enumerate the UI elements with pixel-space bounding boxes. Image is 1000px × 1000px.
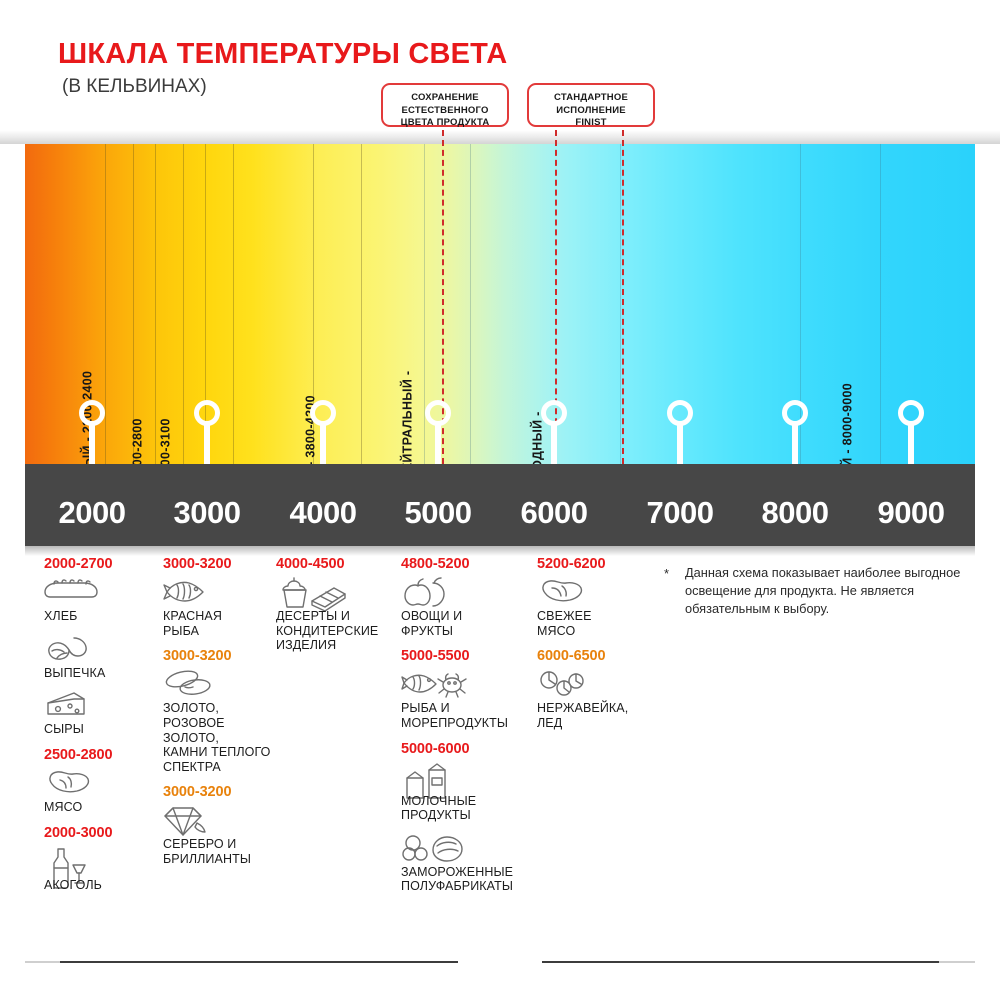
diamond-icon	[163, 805, 281, 835]
legend-item-caption: ХЛЕБ	[44, 609, 156, 624]
scale-marker-3000	[194, 400, 220, 470]
legend-range-label: 2000-3000	[44, 825, 156, 841]
legend-item-caption: ОВОЩИ ИФРУКТЫ	[401, 609, 531, 638]
dairy-icon	[401, 762, 531, 792]
legend-item-caption: СВЕЖЕЕМЯСО	[537, 609, 649, 638]
legend-range-label: 5000-5500	[401, 648, 531, 664]
scale-tick-9000: 9000	[878, 495, 945, 531]
bottom-rule-fade-left	[25, 961, 61, 963]
legend-item-caption: КРАСНАЯРЫБА	[163, 609, 281, 638]
seafood-icon	[401, 669, 531, 699]
legend-column-1: 2000-2700ХЛЕБВЫПЕЧКАСЫРЫ2500-2800МЯСО200…	[44, 556, 156, 902]
legend-range-label: 2500-2800	[44, 747, 156, 763]
guide-line-finist-right	[622, 130, 624, 464]
legend-item-caption: ВЫПЕЧКА	[44, 666, 156, 681]
band-separator	[133, 144, 134, 464]
legend-group: 2000-2700ХЛЕБВЫПЕЧКАСЫРЫ	[44, 556, 156, 737]
scale-marker-2000	[79, 400, 105, 470]
alcohol-icon	[44, 846, 156, 876]
bottom-rule-fade-right	[939, 961, 975, 963]
page-subtitle: (В КЕЛЬВИНАХ)	[62, 76, 207, 98]
fruit-icon	[401, 577, 531, 607]
callout-finist-standard: СТАНДАРТНОЕ ИСПОЛНЕНИЕ FINIST	[527, 83, 655, 127]
legend-group: 3000-3200КРАСНАЯРЫБА	[163, 556, 281, 638]
scale-tick-8000: 8000	[762, 495, 829, 531]
legend-item-caption: АКОГОЛЬ	[44, 878, 156, 893]
legend-group: 5000-6000МОЛОЧНЫЕ ПРОДУКТЫЗАМОРОЖЕННЫЕПО…	[401, 741, 531, 895]
legend-group: 5000-5500РЫБА ИМОРЕПРОДУКТЫ	[401, 648, 531, 730]
legend-item: СЕРЕБРО ИБРИЛЛИАНТЫ	[163, 805, 281, 866]
legend-range-label: 3000-3200	[163, 556, 281, 572]
fresh-meat-icon	[537, 577, 649, 607]
legend-item-caption: ДЕСЕРТЫ ИКОНДИТЕРСКИЕИЗДЕЛИЯ	[276, 609, 396, 653]
scale-tick-4000: 4000	[290, 495, 357, 531]
legend-group: 2000-3000АКОГОЛЬ	[44, 825, 156, 893]
scale-top-shadow	[0, 130, 1000, 144]
legend-item-caption: РЫБА ИМОРЕПРОДУКТЫ	[401, 701, 531, 730]
band-separator	[470, 144, 471, 464]
legend-item: КРАСНАЯРЫБА	[163, 577, 281, 638]
legend-item: РЫБА ИМОРЕПРОДУКТЫ	[401, 669, 531, 730]
legend-column-4: 4800-5200ОВОЩИ ИФРУКТЫ5000-5500РЫБА ИМОР…	[401, 556, 531, 904]
scale-bottom-shadow	[25, 546, 975, 556]
page-title: ШКАЛА ТЕМПЕРАТУРЫ СВЕТА	[58, 38, 507, 71]
red-fish-icon	[163, 577, 281, 607]
footnote-marker: *	[664, 566, 669, 581]
scale-marker-5000	[425, 400, 451, 470]
pastry-icon	[44, 634, 156, 664]
callout-natural-line1: СОХРАНЕНИЕ	[383, 92, 507, 105]
frozen-icon	[401, 833, 531, 863]
callout-finist-line2: ИСПОЛНЕНИЕ	[529, 105, 653, 118]
legend-item-caption: СЫРЫ	[44, 722, 156, 737]
callout-finist-line3: FINIST	[529, 117, 653, 130]
legend-item: ОВОЩИ ИФРУКТЫ	[401, 577, 531, 638]
legend-item-caption: МОЛОЧНЫЕ ПРОДУКТЫ	[401, 794, 531, 823]
band-separator	[361, 144, 362, 464]
legend-item-caption: МЯСО	[44, 800, 156, 815]
band-separator	[183, 144, 184, 464]
legend-range-label: 5200-6200	[537, 556, 649, 572]
scale-marker-6000	[541, 400, 567, 470]
footnote-text: Данная схема показывает наиболее выгодно…	[685, 564, 976, 618]
legend-item-caption: НЕРЖАВЕЙКА,ЛЕД	[537, 701, 649, 730]
legend-item: ВЫПЕЧКА	[44, 634, 156, 681]
legend-item: МОЛОЧНЫЕ ПРОДУКТЫ	[401, 762, 531, 823]
gold-rings-icon	[163, 669, 281, 699]
scale-tick-7000: 7000	[647, 495, 714, 531]
scale-tick-3000: 3000	[174, 495, 241, 531]
scale-marker-8000	[782, 400, 808, 470]
legend-item: СЫРЫ	[44, 690, 156, 737]
legend-item: МЯСО	[44, 768, 156, 815]
bottom-rule-right	[542, 961, 940, 963]
scale-marker-7000	[667, 400, 693, 470]
legend-item: НЕРЖАВЕЙКА,ЛЕД	[537, 669, 649, 730]
legend-range-label: 3000-3200	[163, 648, 281, 664]
legend-item: ХЛЕБ	[44, 577, 156, 624]
legend-item: СВЕЖЕЕМЯСО	[537, 577, 649, 638]
scale-tick-6000: 6000	[521, 495, 588, 531]
footnote: * Данная схема показывает наиболее выгод…	[664, 564, 976, 618]
legend-group: 2500-2800МЯСО	[44, 747, 156, 815]
legend-group: 4000-4500ДЕСЕРТЫ ИКОНДИТЕРСКИЕИЗДЕЛИЯ	[276, 556, 396, 653]
legend-item-caption: ЗАМОРОЖЕННЫЕПОЛУФАБРИКАТЫ	[401, 865, 531, 894]
legend-range-label: 4000-4500	[276, 556, 396, 572]
band-separator	[155, 144, 156, 464]
legend-item: ЗАМОРОЖЕННЫЕПОЛУФАБРИКАТЫ	[401, 833, 531, 894]
bread-icon	[44, 577, 156, 607]
legend-item: ЗОЛОТО,РОЗОВОЕ ЗОЛОТО,КАМНИ ТЕПЛОГОСПЕКТ…	[163, 669, 281, 774]
bottom-rule-left	[60, 961, 458, 963]
callout-finist-line1: СТАНДАРТНОЕ	[529, 92, 653, 105]
color-temperature-scale: СУПЕР ТЕПЛЫЙ - 2200-2400 (тип К 2400) ТЕ…	[0, 130, 1000, 550]
legend-range-label: 3000-3200	[163, 784, 281, 800]
scale-number-bar	[25, 464, 975, 546]
scale-tick-2000: 2000	[59, 495, 126, 531]
legend-column-2: 3000-3200КРАСНАЯРЫБА3000-3200ЗОЛОТО,РОЗО…	[163, 556, 281, 877]
band-separator	[233, 144, 234, 464]
callout-natural-line3: ЦВЕТА ПРОДУКТА	[383, 117, 507, 130]
legend-group: 5200-6200СВЕЖЕЕМЯСО	[537, 556, 649, 638]
legend-range-label: 2000-2700	[44, 556, 156, 572]
callout-natural-color: СОХРАНЕНИЕ ЕСТЕСТВЕННОГО ЦВЕТА ПРОДУКТА	[381, 83, 509, 127]
legend-group: 6000-6500НЕРЖАВЕЙКА,ЛЕД	[537, 648, 649, 730]
callout-natural-line2: ЕСТЕСТВЕННОГО	[383, 105, 507, 118]
gradient-bar	[25, 144, 975, 464]
legend-group: 3000-3200СЕРЕБРО ИБРИЛЛИАНТЫ	[163, 784, 281, 866]
cheese-icon	[44, 690, 156, 720]
band-separator	[880, 144, 881, 464]
legend-column-3: 4000-4500ДЕСЕРТЫ ИКОНДИТЕРСКИЕИЗДЕЛИЯ	[276, 556, 396, 663]
legend-item: АКОГОЛЬ	[44, 846, 156, 893]
scale-marker-9000	[898, 400, 924, 470]
legend-item-caption: СЕРЕБРО ИБРИЛЛИАНТЫ	[163, 837, 281, 866]
legend-column-5: 5200-6200СВЕЖЕЕМЯСО6000-6500НЕРЖАВЕЙКА,Л…	[537, 556, 649, 741]
legend-item-caption: ЗОЛОТО,РОЗОВОЕ ЗОЛОТО,КАМНИ ТЕПЛОГОСПЕКТ…	[163, 701, 281, 774]
legend-item: ДЕСЕРТЫ ИКОНДИТЕРСКИЕИЗДЕЛИЯ	[276, 577, 396, 653]
legend-group: 4800-5200ОВОЩИ ИФРУКТЫ	[401, 556, 531, 638]
dessert-icon	[276, 577, 396, 607]
legend-group: 3000-3200ЗОЛОТО,РОЗОВОЕ ЗОЛОТО,КАМНИ ТЕП…	[163, 648, 281, 774]
scale-marker-4000	[310, 400, 336, 470]
ice-icon	[537, 669, 649, 699]
legend-range-label: 5000-6000	[401, 741, 531, 757]
legend-range-label: 6000-6500	[537, 648, 649, 664]
meat-icon	[44, 768, 156, 798]
band-separator	[620, 144, 621, 464]
scale-tick-5000: 5000	[405, 495, 472, 531]
legend-range-label: 4800-5200	[401, 556, 531, 572]
